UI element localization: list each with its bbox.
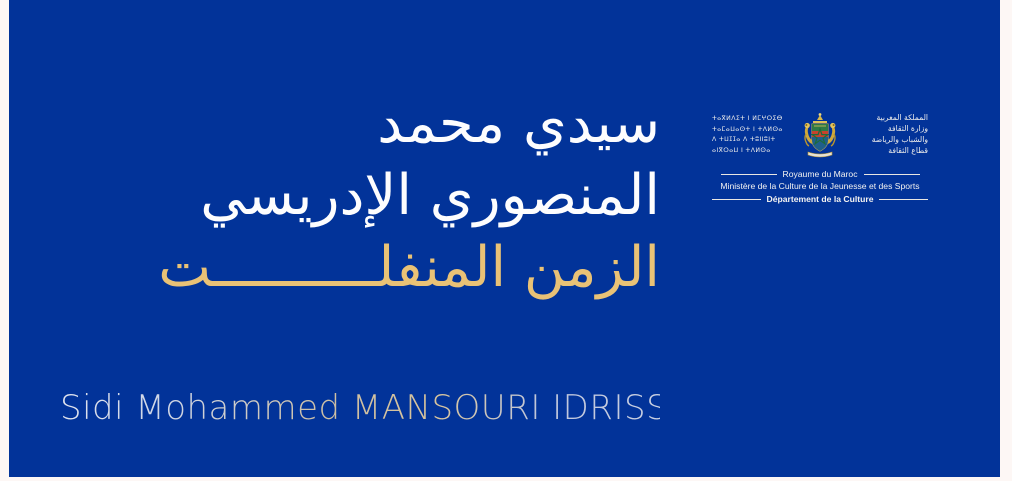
- logo-caption-row-3: Département de la Culture: [712, 193, 928, 205]
- logo-caption-department: Département de la Culture: [767, 193, 874, 205]
- latin-name: Sidi Mohammed MANSOURI IDRISSI: [60, 388, 660, 428]
- ministry-logo: ⵜⴰⴳⵍⴷⵉⵜ ⵏ ⵍⵎⵖⵔⵉⴱ ⵜⴰⵎⴰⵡⴰⵙⵜ ⵏ ⵜⴷⵍⵙⴰ ⴷ ⵜⵡⵊⵊ…: [712, 104, 928, 208]
- title-line-3-subtitle: الزمن المنفلــــــــــت: [60, 232, 660, 304]
- rule-left-2: [712, 199, 761, 200]
- title-line-1: سيدي محمد: [60, 88, 660, 160]
- rule-right-2: [879, 199, 928, 200]
- moroccan-coat-of-arms-icon: [800, 112, 840, 158]
- logo-top-row: ⵜⴰⴳⵍⴷⵉⵜ ⵏ ⵍⵎⵖⵔⵉⴱ ⵜⴰⵎⴰⵡⴰⵙⵜ ⵏ ⵜⴷⵍⵙⴰ ⴷ ⵜⵡⵊⵊ…: [712, 104, 928, 166]
- tifinagh-line-4: ⴰⵏⴳⵔⴰⵡ ⵏ ⵜⴷⵍⵙⴰ: [712, 146, 796, 157]
- tifinagh-line-1: ⵜⴰⴳⵍⴷⵉⵜ ⵏ ⵍⵎⵖⵔⵉⴱ: [712, 114, 796, 125]
- logo-arabic-text: المملكة المغربية وزارة الثقافة والشباب و…: [844, 113, 928, 156]
- logo-caption-row-1: Royaume du Maroc: [712, 168, 928, 180]
- poster-canvas: سيدي محمد المنصوري الإدريسي الزمن المنفل…: [0, 0, 1012, 481]
- logo-caption-ministry: Ministère de la Culture de la Jeunesse e…: [712, 180, 928, 193]
- logo-arabic-line-4: قطاع الثقافة: [844, 146, 928, 157]
- rule-left: [721, 174, 777, 175]
- title-line-2: المنصوري الإدريسي: [60, 160, 660, 232]
- logo-arabic-line-3: والشباب والرياضة: [844, 135, 928, 146]
- logo-caption-block: Royaume du Maroc Ministère de la Culture…: [712, 168, 928, 205]
- logo-tifinagh-text: ⵜⴰⴳⵍⴷⵉⵜ ⵏ ⵍⵎⵖⵔⵉⴱ ⵜⴰⵎⴰⵡⴰⵙⵜ ⵏ ⵜⴷⵍⵙⴰ ⴷ ⵜⵡⵊⵊ…: [712, 114, 796, 156]
- logo-caption-country: Royaume du Maroc: [783, 168, 858, 180]
- arabic-title-block: سيدي محمد المنصوري الإدريسي الزمن المنفل…: [60, 88, 660, 304]
- logo-arabic-line-2: وزارة الثقافة: [844, 124, 928, 135]
- rule-right: [864, 174, 920, 175]
- tifinagh-line-3: ⴷ ⵜⵡⵊⵊⴰ ⴷ ⵜⵓⵏⵏⵓⵏⵜ: [712, 135, 796, 146]
- tifinagh-line-2: ⵜⴰⵎⴰⵡⴰⵙⵜ ⵏ ⵜⴷⵍⵙⴰ: [712, 125, 796, 136]
- logo-arabic-line-1: المملكة المغربية: [844, 113, 928, 124]
